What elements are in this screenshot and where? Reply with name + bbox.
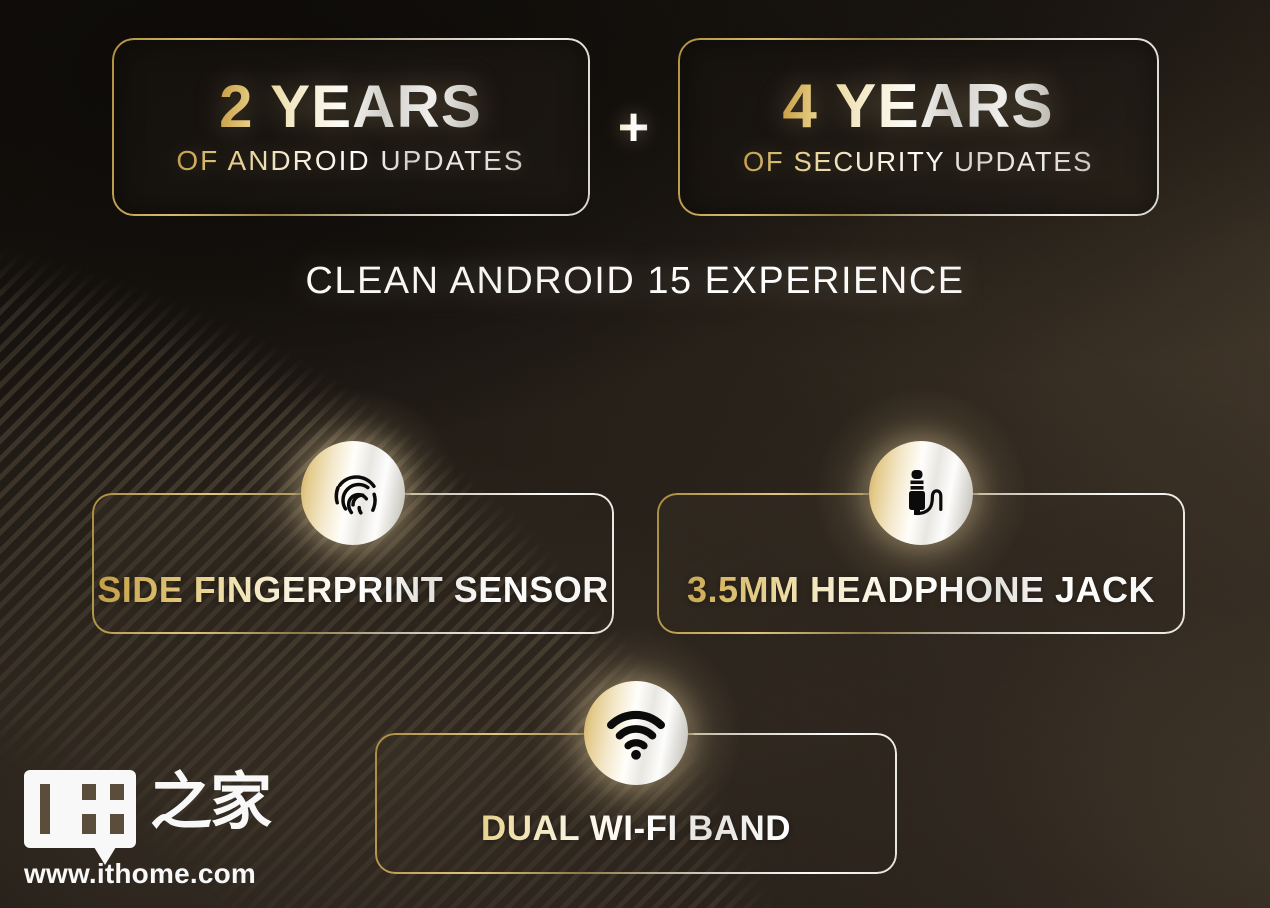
- ithome-watermark: 之家 www.ithome.com: [24, 770, 270, 890]
- page-subtitle: CLEAN ANDROID 15 EXPERIENCE: [0, 260, 1270, 303]
- badge-headline: 4 YEARS: [782, 76, 1053, 138]
- badge-subline: OF ANDROID UPDATES: [176, 145, 524, 177]
- badge-headline: 2 YEARS: [219, 77, 482, 137]
- headphone-jack-icon: [869, 441, 973, 545]
- fingerprint-icon: [301, 441, 405, 545]
- feature-dual-wifi-band: DUAL WI-FI BAND: [375, 681, 897, 875]
- infographic-stage: 2 YEARS OF ANDROID UPDATES + 4 YEARS OF …: [0, 0, 1270, 908]
- badge-subline: OF SECURITY UPDATES: [743, 146, 1093, 178]
- ithome-logo-cn: 之家: [150, 772, 270, 833]
- wifi-icon: [584, 681, 688, 785]
- badge-security-updates: 4 YEARS OF SECURITY UPDATES: [678, 38, 1159, 216]
- plus-icon: +: [590, 100, 678, 154]
- feature-headphone-jack: 3.5MM HEADPHONE JACK: [657, 441, 1185, 635]
- feature-label: DUAL WI-FI BAND: [375, 809, 897, 849]
- feature-label: SIDE FINGERPRINT SENSOR: [92, 569, 614, 611]
- ithome-logo-mark: [24, 770, 136, 848]
- ithome-url: www.ithome.com: [24, 858, 270, 890]
- updates-badges-row: 2 YEARS OF ANDROID UPDATES + 4 YEARS OF …: [0, 36, 1270, 218]
- badge-android-updates: 2 YEARS OF ANDROID UPDATES: [112, 38, 590, 216]
- feature-label: 3.5MM HEADPHONE JACK: [657, 569, 1185, 611]
- feature-side-fingerprint-sensor: SIDE FINGERPRINT SENSOR: [92, 441, 614, 635]
